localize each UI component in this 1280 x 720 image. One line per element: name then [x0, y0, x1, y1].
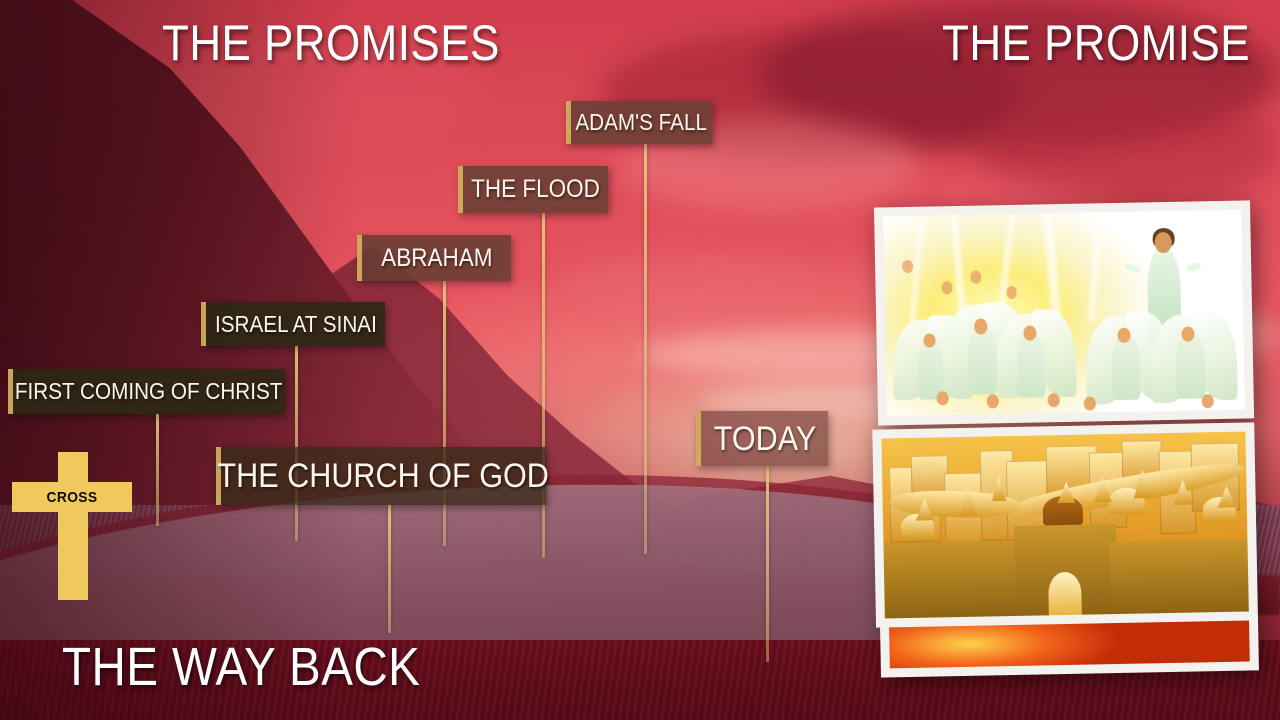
page-title-right: THE PROMISE: [942, 14, 1250, 72]
timeline-connector-abraham: [443, 281, 446, 546]
timeline-label-box-the-flood[interactable]: THE FLOOD: [458, 166, 608, 213]
timeline-label-text-the-flood: THE FLOOD: [471, 177, 600, 202]
golden-city-artwork: [881, 432, 1248, 619]
timeline-label-text-today: TODAY: [713, 422, 816, 456]
cross-label: CROSS: [17, 482, 127, 512]
timeline-connector-church-of-god: [388, 505, 391, 633]
timeline-connector-israel-sinai: [295, 346, 298, 541]
timeline-label-text-church-of-god: THE CHURCH OF GOD: [218, 459, 549, 493]
timeline-label-box-abraham[interactable]: ABRAHAM: [357, 235, 511, 281]
slide-canvas: THE PROMISES THE PROMISE THE WAY BACK AD…: [0, 0, 1280, 720]
timeline-connector-today: [766, 466, 769, 662]
timeline-label-box-adams-fall[interactable]: ADAM'S FALL: [566, 101, 712, 144]
picture-frame-heaven[interactable]: [874, 200, 1254, 425]
timeline-label-box-israel-sinai[interactable]: ISRAEL AT SINAI: [201, 302, 385, 346]
timeline-connector-the-flood: [542, 213, 545, 558]
timeline-label-text-first-coming: FIRST COMING OF CHRIST: [15, 380, 283, 403]
timeline-connector-adams-fall: [644, 144, 647, 554]
page-title-bottom: THE WAY BACK: [62, 636, 420, 698]
picture-stack: [868, 200, 1260, 627]
timeline-connector-first-coming: [156, 414, 159, 526]
timeline-label-text-adams-fall: ADAM'S FALL: [576, 111, 708, 134]
timeline-label-box-church-of-god[interactable]: THE CHURCH OF GOD: [216, 447, 546, 505]
timeline-label-text-abraham: ABRAHAM: [381, 246, 492, 271]
cross-vertical-beam: [58, 452, 88, 600]
timeline-label-text-israel-sinai: ISRAEL AT SINAI: [215, 313, 377, 336]
heaven-scene-artwork: [883, 210, 1245, 417]
timeline-label-box-first-coming[interactable]: FIRST COMING OF CHRIST: [8, 369, 285, 414]
page-title-left: THE PROMISES: [162, 14, 500, 72]
picture-frame-city[interactable]: [872, 422, 1258, 627]
timeline-label-box-today[interactable]: TODAY: [696, 411, 828, 466]
cross-marker[interactable]: CROSS: [12, 452, 132, 600]
